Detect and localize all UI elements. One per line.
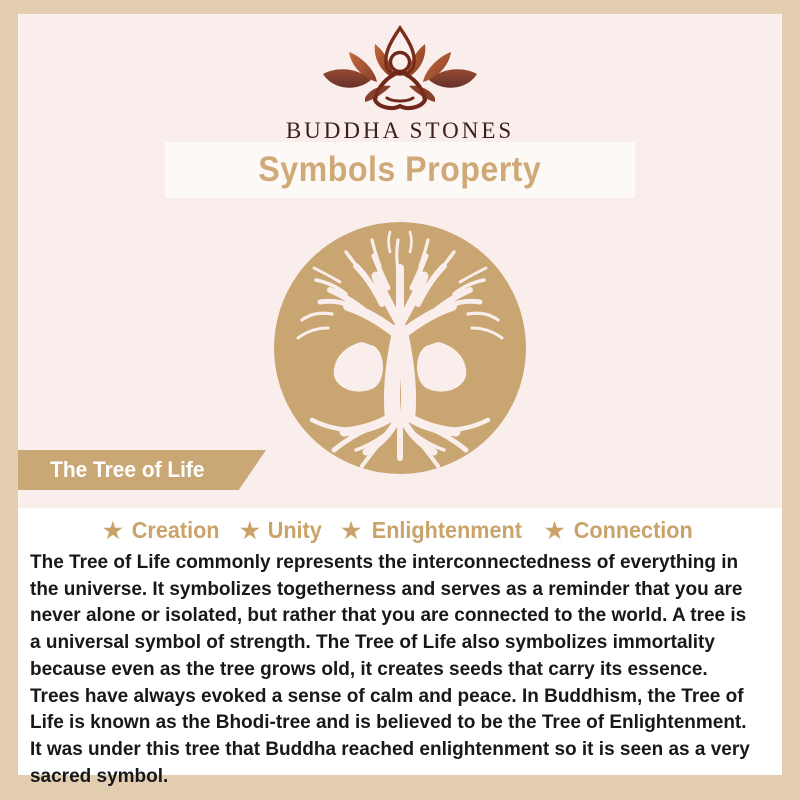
tree-of-life-icon — [270, 218, 530, 478]
star-icon: ★ — [103, 520, 123, 542]
keyword-item: ★ Connection — [545, 517, 697, 544]
brand-logo: BUDDHA STONES — [0, 22, 800, 144]
star-icon: ★ — [240, 520, 260, 542]
star-icon: ★ — [545, 520, 565, 542]
keyword-label: Connection — [574, 517, 693, 544]
frame-band-top — [0, 0, 800, 14]
page-title: Symbols Property — [259, 150, 542, 190]
keyword-item: ★ Enlightenment — [341, 517, 526, 544]
keyword-label: Creation — [132, 517, 220, 544]
lotus-meditation-icon — [305, 22, 495, 114]
infographic-page: BUDDHA STONES Symbols Property — [0, 0, 800, 800]
section-banner: The Tree of Life — [18, 450, 266, 490]
description-paragraph: The Tree of Life commonly represents the… — [30, 550, 759, 790]
star-icon: ★ — [341, 520, 361, 542]
section-banner-label: The Tree of Life — [50, 457, 204, 483]
content-panel: ★ Creation ★ Unity ★ Enlightenment ★ Con… — [18, 508, 782, 775]
tree-of-life-emblem — [270, 218, 530, 478]
keyword-item: ★ Unity — [240, 517, 323, 544]
title-plaque: Symbols Property — [165, 142, 635, 198]
keyword-label: Enlightenment — [372, 517, 522, 544]
keyword-list: ★ Creation ★ Unity ★ Enlightenment ★ Con… — [18, 508, 782, 544]
keyword-label: Unity — [268, 517, 322, 544]
keyword-item: ★ Creation — [103, 517, 222, 544]
brand-name: BUDDHA STONES — [0, 118, 800, 144]
